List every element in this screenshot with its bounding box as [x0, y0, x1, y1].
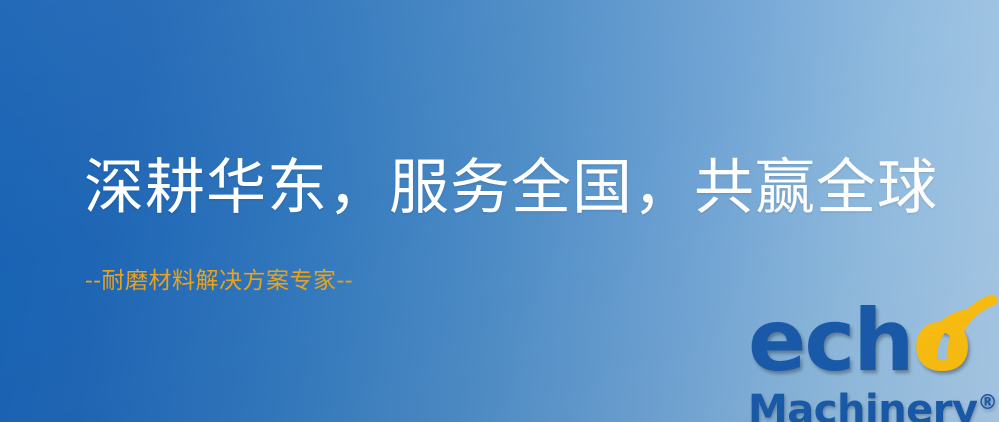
banner-subtitle: --耐磨材料解决方案专家-- [85, 266, 353, 296]
logo-tagline: Machinery® [748, 380, 998, 422]
signal-waves-icon [924, 294, 999, 368]
logo-wordmark: echo Machinery® [746, 296, 999, 422]
banner-headline: 深耕华东，服务全国，共赢全球 [84, 152, 938, 224]
logo-tagline-text: Machinery [748, 387, 978, 422]
hero-banner: 深耕华东，服务全国，共赢全球 --耐磨材料解决方案专家-- echo Machi… [0, 0, 999, 422]
logo-brand-ech: ech [748, 291, 913, 391]
registered-trademark-icon: ® [978, 390, 998, 414]
company-logo[interactable]: echo Machinery® [746, 296, 999, 422]
